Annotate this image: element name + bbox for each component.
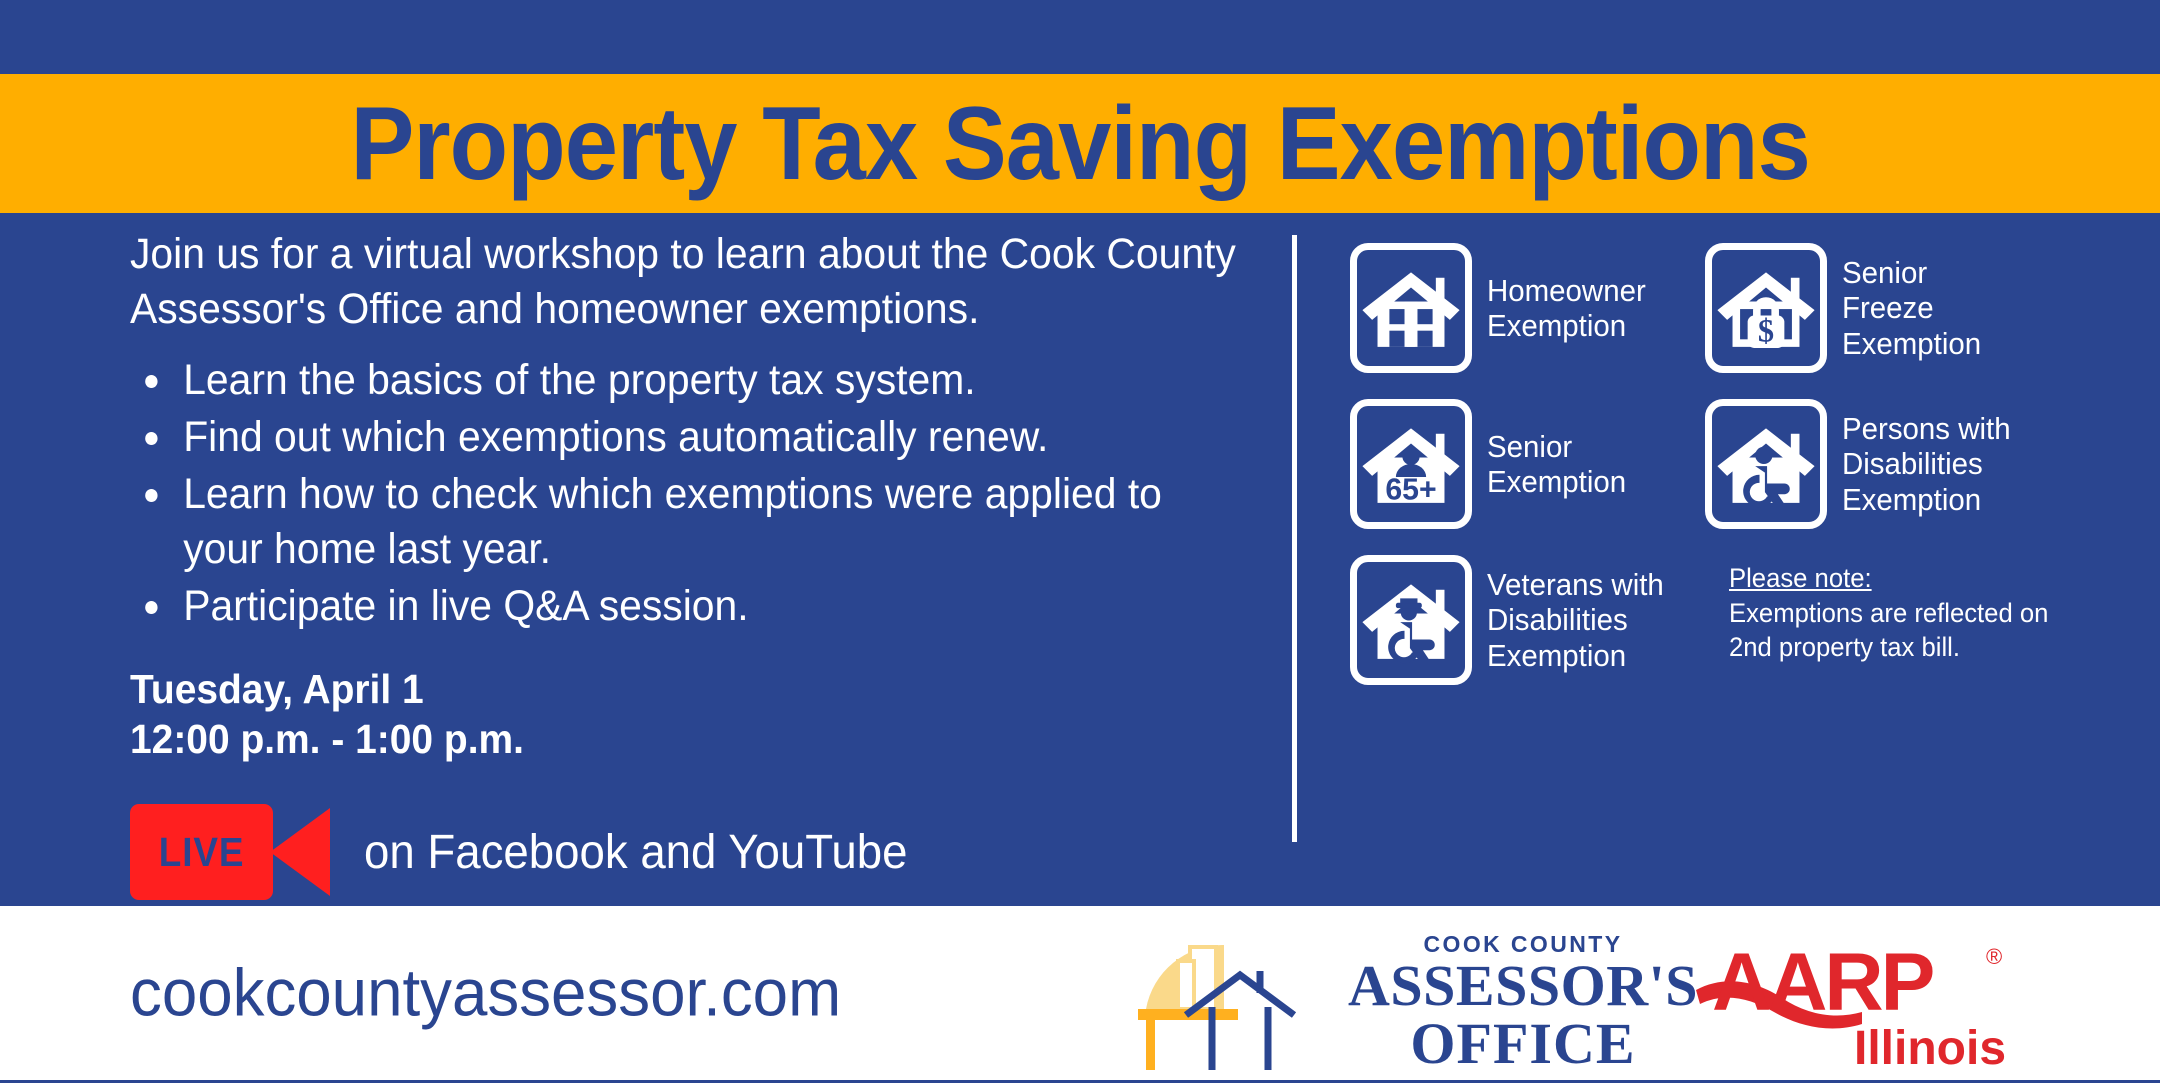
label-line: Exemption xyxy=(1842,326,1981,361)
exemption-item-persons-with-disabilities: Persons with Disabilities Exemption xyxy=(1705,399,2105,529)
video-camera-icon xyxy=(270,808,330,896)
house-lock-dollar-icon: $ xyxy=(1705,243,1827,373)
exemption-label: Senior Exemption xyxy=(1487,429,1626,499)
label-line: Exemption xyxy=(1487,308,1646,343)
svg-text:AARP: AARP xyxy=(1712,937,1933,1028)
live-platforms-label: on Facebook and YouTube xyxy=(364,825,907,880)
note-line: 2nd property tax bill. xyxy=(1729,630,2048,665)
house-icon xyxy=(1350,243,1472,373)
list-item: Learn how to check which exemptions were… xyxy=(130,467,1251,577)
svg-text:$: $ xyxy=(1758,313,1774,349)
top-blue-strip xyxy=(0,0,2160,74)
list-item: Participate in live Q&A session. xyxy=(130,579,1251,634)
assessor-line2: OFFICE xyxy=(1348,1015,1698,1073)
aarp-illinois-logo: AARP ® Illinois xyxy=(1686,928,2046,1078)
assessor-house-mark-icon xyxy=(1128,927,1338,1077)
exemption-item-homeowner: Homeowner Exemption xyxy=(1350,243,1705,373)
main-content: Join us for a virtual workshop to learn … xyxy=(0,213,2160,906)
live-badge: LIVE xyxy=(130,804,330,900)
label-line: Disabilities xyxy=(1842,446,2011,481)
exemption-label: Persons with Disabilities Exemption xyxy=(1842,411,2011,516)
label-line: Exemption xyxy=(1487,464,1626,499)
exemption-label: Veterans with Disabilities Exemption xyxy=(1487,567,1664,672)
exemption-label: Homeowner Exemption xyxy=(1487,273,1646,343)
footer: cookcountyassessor.com COOK COUNTY ASSE xyxy=(0,906,2160,1080)
house-veteran-wheelchair-icon xyxy=(1350,555,1472,685)
exemption-row: Homeowner Exemption xyxy=(1350,243,2110,373)
event-date: Tuesday, April 1 xyxy=(130,664,1213,714)
title-banner: Property Tax Saving Exemptions xyxy=(0,74,2160,213)
label-line: Senior xyxy=(1487,429,1626,464)
label-line: Persons with xyxy=(1842,411,2011,446)
svg-text:65+: 65+ xyxy=(1385,474,1436,507)
cook-county-assessor-logo: COOK COUNTY ASSESSOR'S OFFICE xyxy=(1128,922,1648,1082)
website-url[interactable]: cookcountyassessor.com xyxy=(130,955,841,1032)
note-heading: Please note: xyxy=(1729,561,2048,596)
house-wheelchair-icon xyxy=(1705,399,1827,529)
left-column: Join us for a virtual workshop to learn … xyxy=(130,227,1270,900)
intro-paragraph: Join us for a virtual workshop to learn … xyxy=(130,227,1251,337)
exemptions-panel: Homeowner Exemption xyxy=(1350,243,2110,711)
label-line: Exemption xyxy=(1842,482,2011,517)
event-time: 12:00 p.m. - 1:00 p.m. xyxy=(130,714,1213,764)
exemption-item-senior-freeze: $ Senior Freeze Exemption xyxy=(1705,243,2105,373)
label-line: Disabilities xyxy=(1487,602,1664,637)
exemption-item-senior: 65+ Senior Exemption xyxy=(1350,399,1705,529)
exemption-item-veterans-with-disabilities: Veterans with Disabilities Exemption xyxy=(1350,555,1705,685)
page-title: Property Tax Saving Exemptions xyxy=(350,92,1809,196)
svg-text:®: ® xyxy=(1986,944,2002,969)
exemption-label: Senior Freeze Exemption xyxy=(1842,255,1981,360)
please-note-block: Please note: Exemptions are reflected on… xyxy=(1729,561,2048,685)
list-item: Learn the basics of the property tax sys… xyxy=(130,353,1251,408)
benefits-list: Learn the basics of the property tax sys… xyxy=(130,353,1270,634)
live-label: LIVE xyxy=(159,829,245,876)
house-person-65plus-icon: 65+ xyxy=(1350,399,1472,529)
label-line: Veterans with xyxy=(1487,567,1664,602)
list-item: Find out which exemptions automatically … xyxy=(130,410,1251,465)
label-line: Exemption xyxy=(1487,638,1664,673)
assessor-line1: ASSESSOR'S xyxy=(1348,958,1698,1015)
svg-text:Illinois: Illinois xyxy=(1854,1022,2006,1075)
assessor-wordmark: COOK COUNTY ASSESSOR'S OFFICE xyxy=(1348,931,1698,1073)
label-line: Senior xyxy=(1842,255,1981,290)
exemption-row: 65+ Senior Exemption xyxy=(1350,399,2110,529)
label-line: Freeze xyxy=(1842,290,1981,325)
live-label-box: LIVE xyxy=(130,804,273,900)
exemption-row: Veterans with Disabilities Exemption Ple… xyxy=(1350,555,2110,685)
label-line: Homeowner xyxy=(1487,273,1646,308)
event-datetime: Tuesday, April 1 12:00 p.m. - 1:00 p.m. xyxy=(130,664,1213,764)
vertical-divider xyxy=(1292,235,1297,842)
live-stream-row: LIVE on Facebook and YouTube xyxy=(130,804,1270,900)
note-line: Exemptions are reflected on xyxy=(1729,596,2048,631)
